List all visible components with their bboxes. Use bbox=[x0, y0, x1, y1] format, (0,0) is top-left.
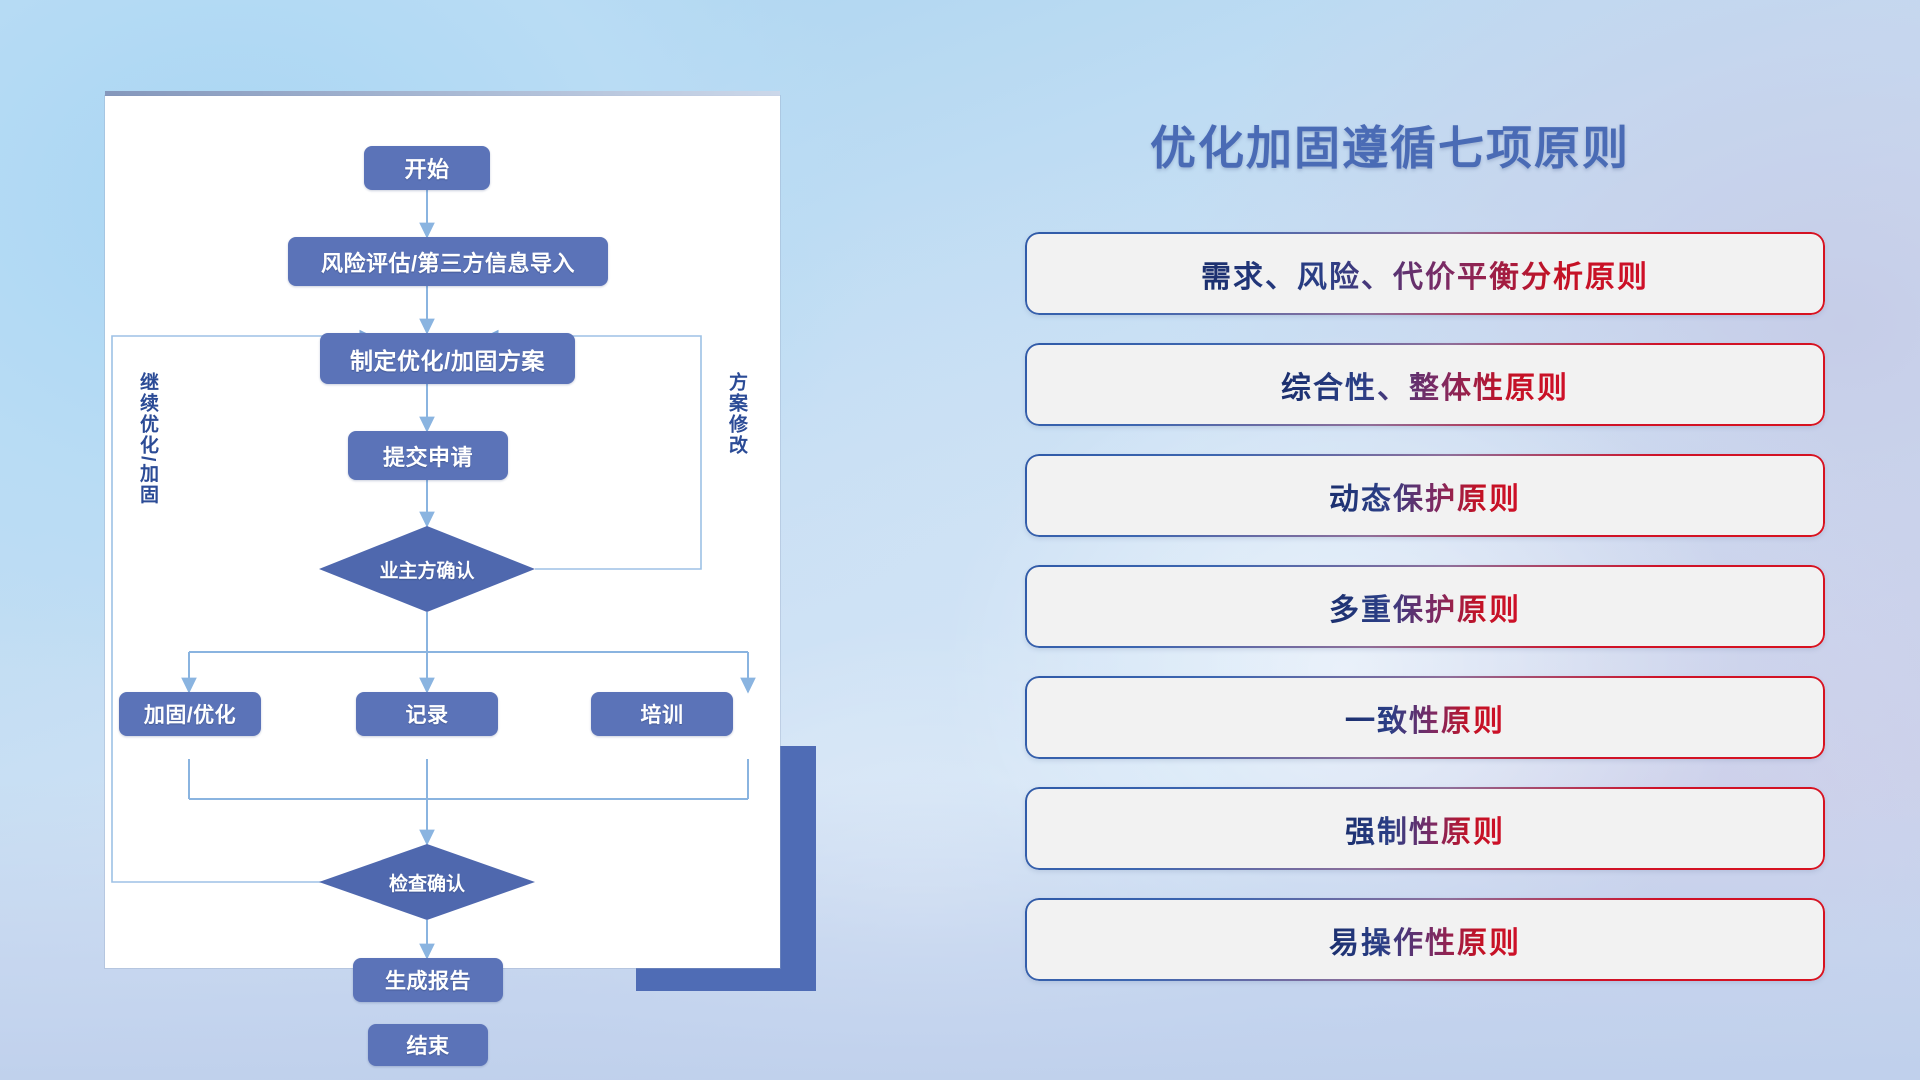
flow-node-end[interactable]: 结束 bbox=[368, 1024, 488, 1066]
principle-card-5[interactable]: 一致性原则 bbox=[1025, 676, 1825, 759]
flow-edge-label-continue-optimize-text: 继续优化/加固 bbox=[137, 372, 158, 505]
flow-node-record-label: 记录 bbox=[406, 699, 449, 729]
flow-node-end-label: 结束 bbox=[407, 1030, 450, 1060]
flow-node-submit-application-label: 提交申请 bbox=[383, 440, 473, 472]
flow-node-training-label: 培训 bbox=[641, 699, 684, 729]
flow-node-reinforce-optimize-label: 加固/优化 bbox=[144, 699, 236, 729]
principle-card-7-label: 易操作性原则 bbox=[1329, 918, 1521, 962]
flow-decision-check-confirm[interactable]: 检查确认 bbox=[319, 844, 535, 920]
right-panel-title: 优化加固遵循七项原则 bbox=[1150, 112, 1630, 178]
principle-card-3-label: 动态保护原则 bbox=[1329, 474, 1521, 518]
principle-card-3[interactable]: 动态保护原则 bbox=[1025, 454, 1825, 537]
principle-card-1[interactable]: 需求、风险、代价平衡分析原则 bbox=[1025, 232, 1825, 315]
principle-card-6[interactable]: 强制性原则 bbox=[1025, 787, 1825, 870]
flow-node-record[interactable]: 记录 bbox=[356, 692, 498, 736]
flow-node-generate-report-label: 生成报告 bbox=[385, 965, 471, 995]
principle-card-5-label: 一致性原则 bbox=[1345, 696, 1505, 740]
principle-card-4-label: 多重保护原则 bbox=[1329, 585, 1521, 629]
flow-decision-owner-confirm-label: 业主方确认 bbox=[379, 556, 474, 583]
flow-decision-owner-confirm[interactable]: 业主方确认 bbox=[319, 526, 535, 612]
principle-card-7[interactable]: 易操作性原则 bbox=[1025, 898, 1825, 981]
flowchart-panel: 开始 风险评估/第三方信息导入 制定优化/加固方案 提交申请 业主方确认 加固/… bbox=[105, 96, 780, 968]
principle-card-2[interactable]: 综合性、整体性原则 bbox=[1025, 343, 1825, 426]
principles-card-list: 需求、风险、代价平衡分析原则 综合性、整体性原则 动态保护原则 多重保护原则 一… bbox=[1025, 232, 1825, 1009]
flow-node-start[interactable]: 开始 bbox=[364, 146, 490, 190]
principle-card-6-label: 强制性原则 bbox=[1345, 807, 1505, 851]
flow-decision-check-confirm-label: 检查确认 bbox=[389, 869, 465, 896]
flow-node-risk-assessment-label: 风险评估/第三方信息导入 bbox=[321, 246, 575, 278]
principle-card-1-label: 需求、风险、代价平衡分析原则 bbox=[1201, 252, 1649, 296]
flow-node-submit-application[interactable]: 提交申请 bbox=[348, 431, 508, 480]
flow-node-reinforce-optimize[interactable]: 加固/优化 bbox=[119, 692, 261, 736]
principle-card-2-label: 综合性、整体性原则 bbox=[1281, 363, 1569, 407]
flow-node-training[interactable]: 培训 bbox=[591, 692, 733, 736]
flow-node-start-label: 开始 bbox=[404, 152, 449, 184]
flow-edge-label-continue-optimize: 继续优化/加固 bbox=[134, 372, 161, 505]
flow-node-risk-assessment[interactable]: 风险评估/第三方信息导入 bbox=[288, 237, 608, 286]
flow-edge-label-plan-revision-text: 方案修改 bbox=[726, 372, 747, 456]
flow-node-make-plan-label: 制定优化/加固方案 bbox=[350, 342, 545, 376]
principle-card-4[interactable]: 多重保护原则 bbox=[1025, 565, 1825, 648]
flow-node-generate-report[interactable]: 生成报告 bbox=[353, 958, 503, 1002]
flow-node-make-plan[interactable]: 制定优化/加固方案 bbox=[320, 333, 575, 384]
flowchart-canvas: 开始 风险评估/第三方信息导入 制定优化/加固方案 提交申请 业主方确认 加固/… bbox=[105, 96, 780, 968]
flow-edge-label-plan-revision: 方案修改 bbox=[723, 372, 750, 456]
